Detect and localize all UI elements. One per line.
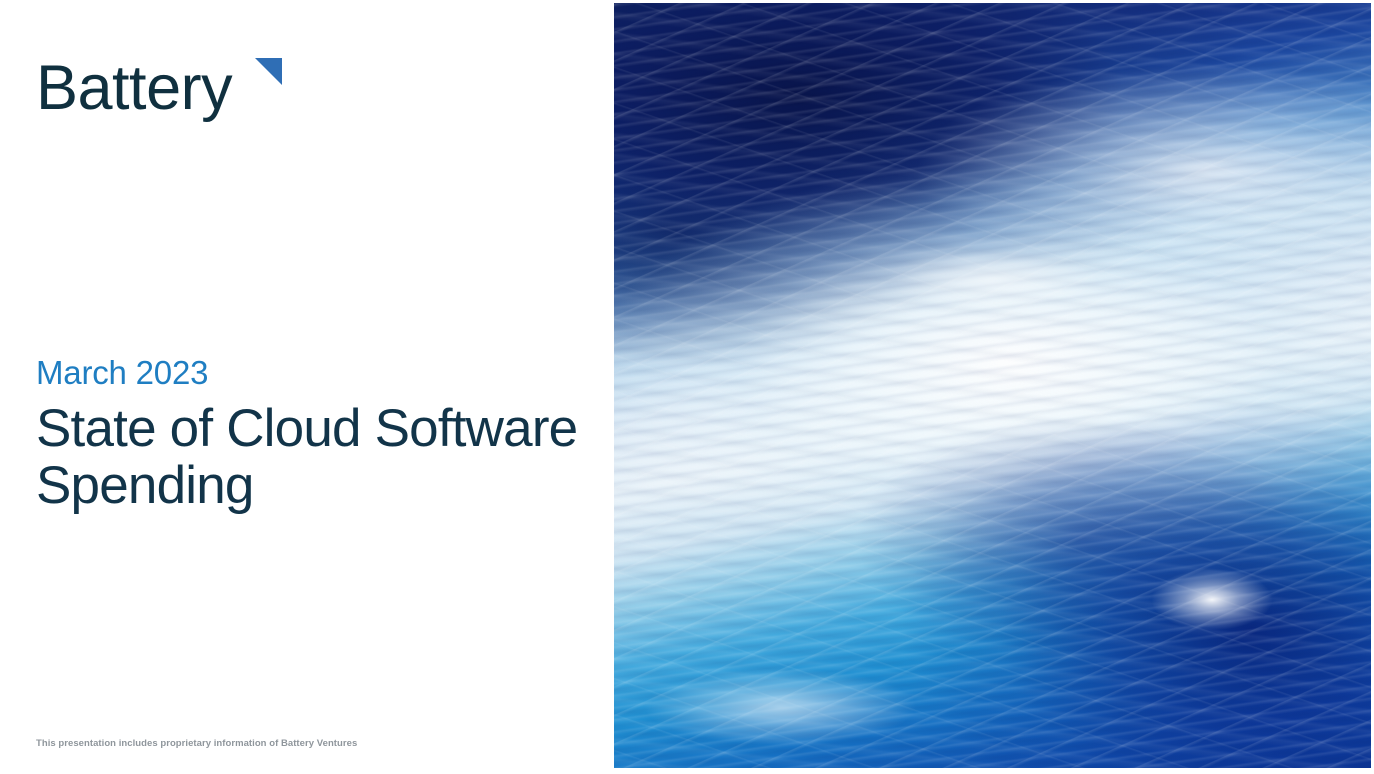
title-slide: Battery March 2023 State of Cloud Softwa… (0, 0, 1374, 774)
logo-wordmark: Battery (36, 52, 232, 124)
title-block: March 2023 State of Cloud Software Spend… (36, 352, 606, 514)
slide-date: March 2023 (36, 352, 606, 394)
photo-highlight-layer (614, 3, 1371, 768)
triangle-mark-icon (255, 58, 282, 86)
footer-disclaimer: This presentation includes proprietary i… (36, 738, 357, 749)
left-text-panel: Battery March 2023 State of Cloud Softwa… (0, 0, 614, 774)
battery-logo[interactable]: Battery (36, 52, 286, 124)
page-title: State of Cloud Software Spending (36, 400, 606, 514)
ocean-waves-photo (614, 3, 1371, 768)
